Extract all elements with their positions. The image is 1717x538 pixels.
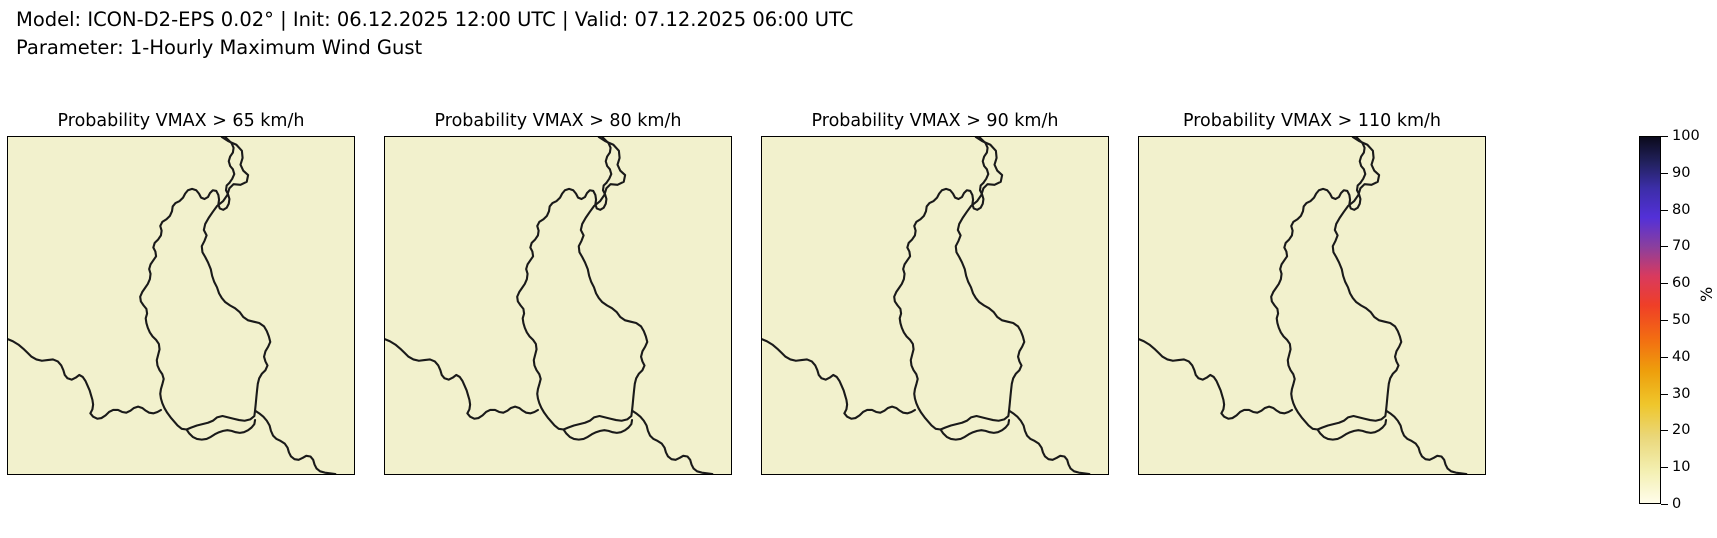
colorbar-tick-label-80: 80 (1672, 203, 1690, 217)
border-path-0 (140, 137, 270, 430)
colorbar-tick-label-30: 30 (1672, 387, 1690, 401)
border-path-1 (385, 339, 538, 419)
colorbar-tick-label-10: 10 (1672, 460, 1690, 474)
colorbar: 1009080706050403020100 (1639, 136, 1661, 504)
colorbar-tick-30 (1661, 394, 1668, 395)
map-panel-110[interactable] (1138, 136, 1486, 475)
border-path-1 (1139, 339, 1292, 419)
colorbar-tick-40 (1661, 357, 1668, 358)
border-path-3 (564, 420, 633, 440)
colorbar-tick-label-90: 90 (1672, 166, 1690, 180)
colorbar-tick-label-20: 20 (1672, 423, 1690, 437)
map-borders (385, 137, 731, 474)
border-path-0 (1271, 137, 1401, 430)
border-path-2 (632, 411, 712, 474)
colorbar-tick-label-70: 70 (1672, 239, 1690, 253)
colorbar-tick-0 (1661, 504, 1668, 505)
border-path-4 (979, 137, 988, 183)
colorbar-tick-label-100: 100 (1672, 129, 1700, 143)
panel-title-80: Probability VMAX > 80 km/h (383, 111, 733, 132)
colorbar-unit-label: % (1697, 287, 1716, 302)
border-path-2 (1386, 411, 1466, 474)
colorbar-tick-60 (1661, 283, 1668, 284)
colorbar-tick-100 (1661, 136, 1668, 137)
border-path-4 (1356, 137, 1365, 183)
panel-title-110: Probability VMAX > 110 km/h (1137, 111, 1487, 132)
border-path-0 (894, 137, 1024, 430)
border-path-0 (517, 137, 647, 430)
colorbar-tick-10 (1661, 467, 1668, 468)
colorbar-tick-label-50: 50 (1672, 313, 1690, 327)
colorbar-tick-20 (1661, 430, 1668, 431)
colorbar-gradient (1639, 136, 1661, 504)
figure-canvas: Model: ICON-D2-EPS 0.02° | Init: 06.12.2… (0, 0, 1717, 538)
figure-header: Model: ICON-D2-EPS 0.02° | Init: 06.12.2… (16, 6, 1216, 62)
border-path-4 (225, 137, 234, 183)
border-path-1 (762, 339, 915, 419)
panel-title-90: Probability VMAX > 90 km/h (760, 111, 1110, 132)
colorbar-tick-50 (1661, 320, 1668, 321)
colorbar-tick-label-0: 0 (1672, 497, 1681, 511)
border-path-4 (602, 137, 611, 183)
map-panel-65[interactable] (7, 136, 355, 475)
colorbar-tick-70 (1661, 246, 1668, 247)
border-path-2 (255, 411, 335, 474)
map-borders (8, 137, 354, 474)
border-path-3 (1318, 420, 1387, 440)
panel-title-65: Probability VMAX > 65 km/h (6, 111, 356, 132)
map-borders (1139, 137, 1485, 474)
colorbar-tick-label-60: 60 (1672, 276, 1690, 290)
border-path-1 (8, 339, 161, 419)
colorbar-tick-80 (1661, 210, 1668, 211)
border-path-2 (1009, 411, 1089, 474)
map-panel-90[interactable] (761, 136, 1109, 475)
border-path-3 (187, 420, 256, 440)
colorbar-tick-label-40: 40 (1672, 350, 1690, 364)
header-parameter-line: Parameter: 1-Hourly Maximum Wind Gust (16, 34, 1216, 62)
colorbar-tick-90 (1661, 173, 1668, 174)
map-panel-80[interactable] (384, 136, 732, 475)
header-model-line: Model: ICON-D2-EPS 0.02° | Init: 06.12.2… (16, 6, 1216, 34)
map-borders (762, 137, 1108, 474)
border-path-3 (941, 420, 1010, 440)
